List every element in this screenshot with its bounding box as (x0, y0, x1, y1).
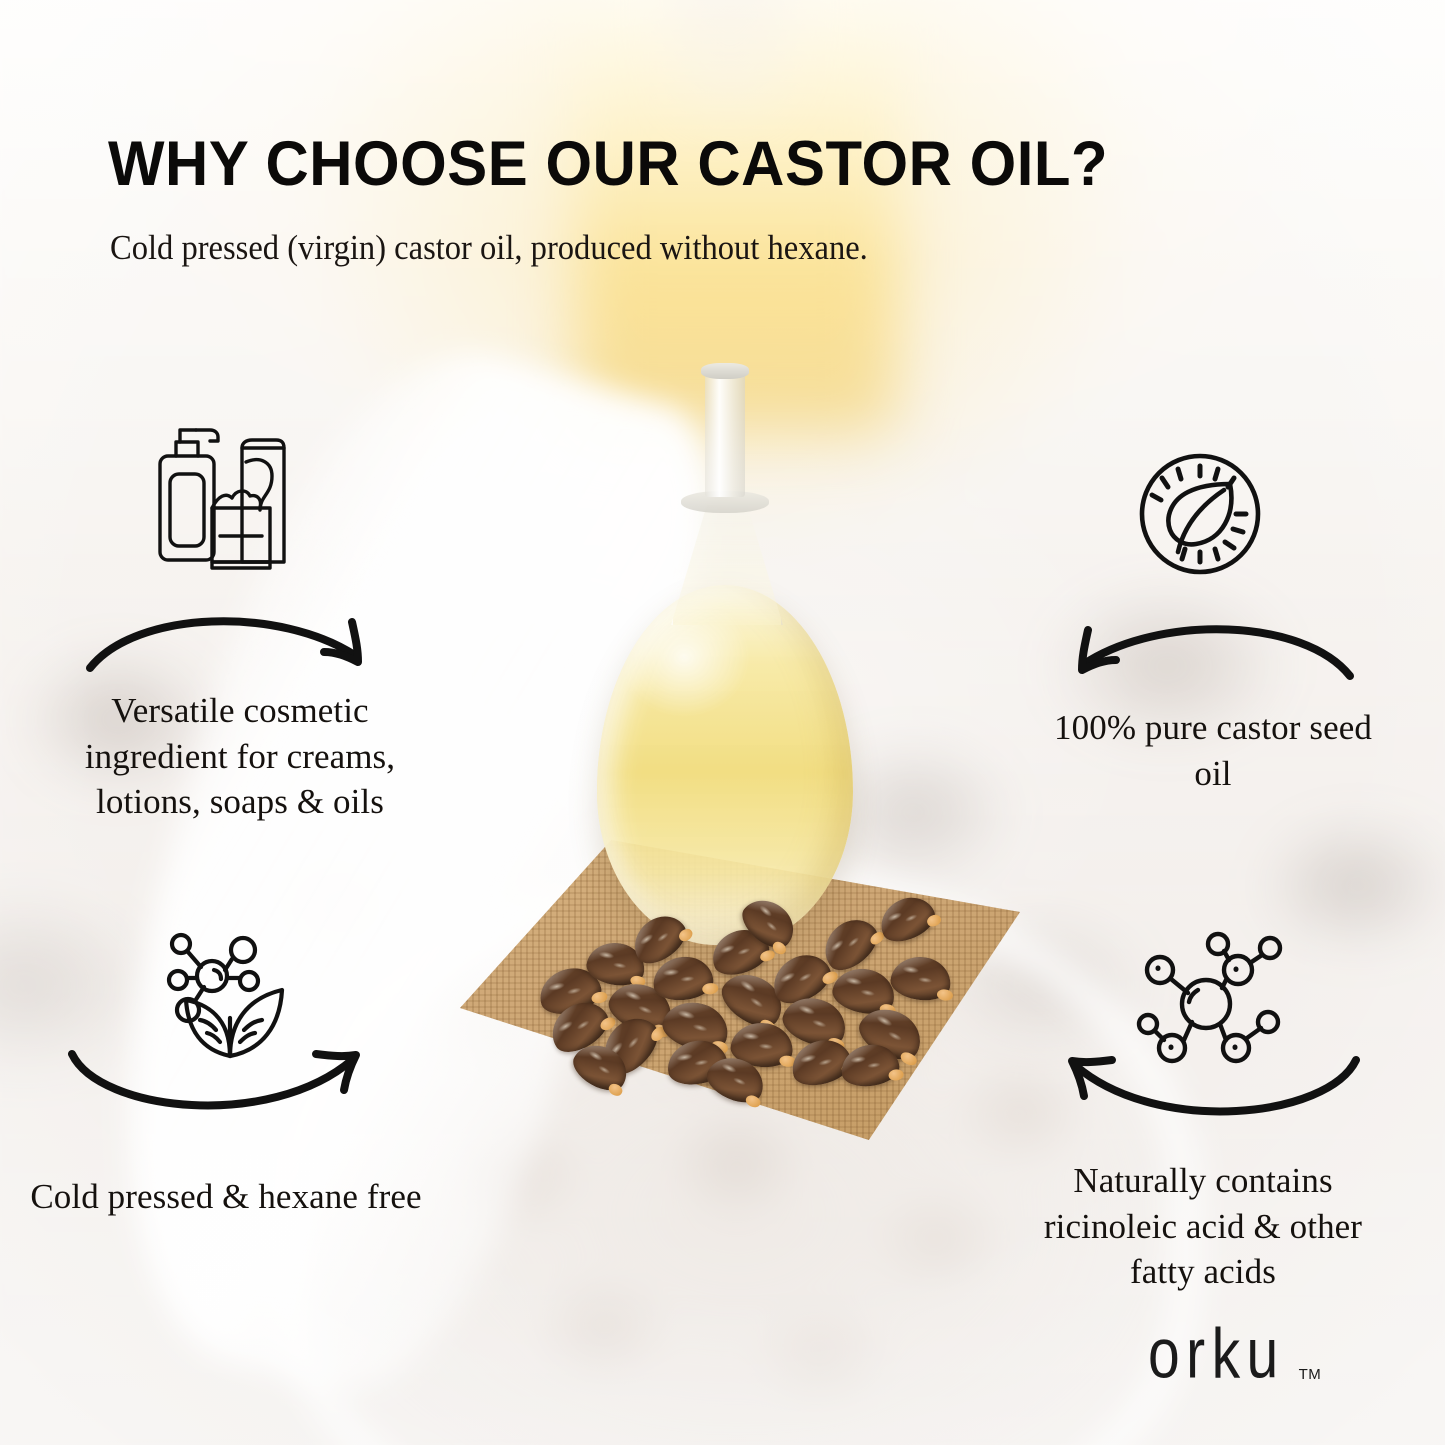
feature-text-pure-castor-seed-oil: 100% pure castor seed oil (1040, 705, 1386, 796)
curved-arrow-up-right (64, 1040, 370, 1130)
castor-seeds (535, 865, 965, 1075)
bottle-stem (705, 369, 745, 497)
feature-text-versatile-cosmetic: Versatile cosmetic ingredient for creams… (50, 688, 430, 825)
page-title: WHY CHOOSE OUR CASTOR OIL? (108, 133, 1108, 196)
curved-arrow-down-left (1056, 610, 1356, 688)
curved-arrow-up-left (1058, 1046, 1364, 1136)
brand-name: orku (1148, 1322, 1285, 1389)
curved-arrow-down-right (84, 602, 384, 680)
brand-logo: orku TM (1148, 1330, 1321, 1389)
infographic-canvas: WHY CHOOSE OUR CASTOR OIL? Cold pressed … (0, 0, 1445, 1445)
leaf-badge-icon (1134, 448, 1266, 580)
bottle-cap (701, 363, 749, 379)
feature-text-ricinoleic-acid: Naturally contains ricinoleic acid & oth… (1012, 1158, 1394, 1295)
trademark-symbol: TM (1299, 1366, 1322, 1383)
bottle-shoulder (671, 505, 783, 625)
feature-text-cold-pressed-hexane-free: Cold pressed & hexane free (26, 1174, 426, 1220)
page-subtitle: Cold pressed (virgin) castor oil, produc… (110, 227, 868, 269)
product-composition (405, 385, 1105, 1145)
cosmetic-bottles-icon (134, 404, 324, 574)
oil-bottle (575, 385, 875, 945)
